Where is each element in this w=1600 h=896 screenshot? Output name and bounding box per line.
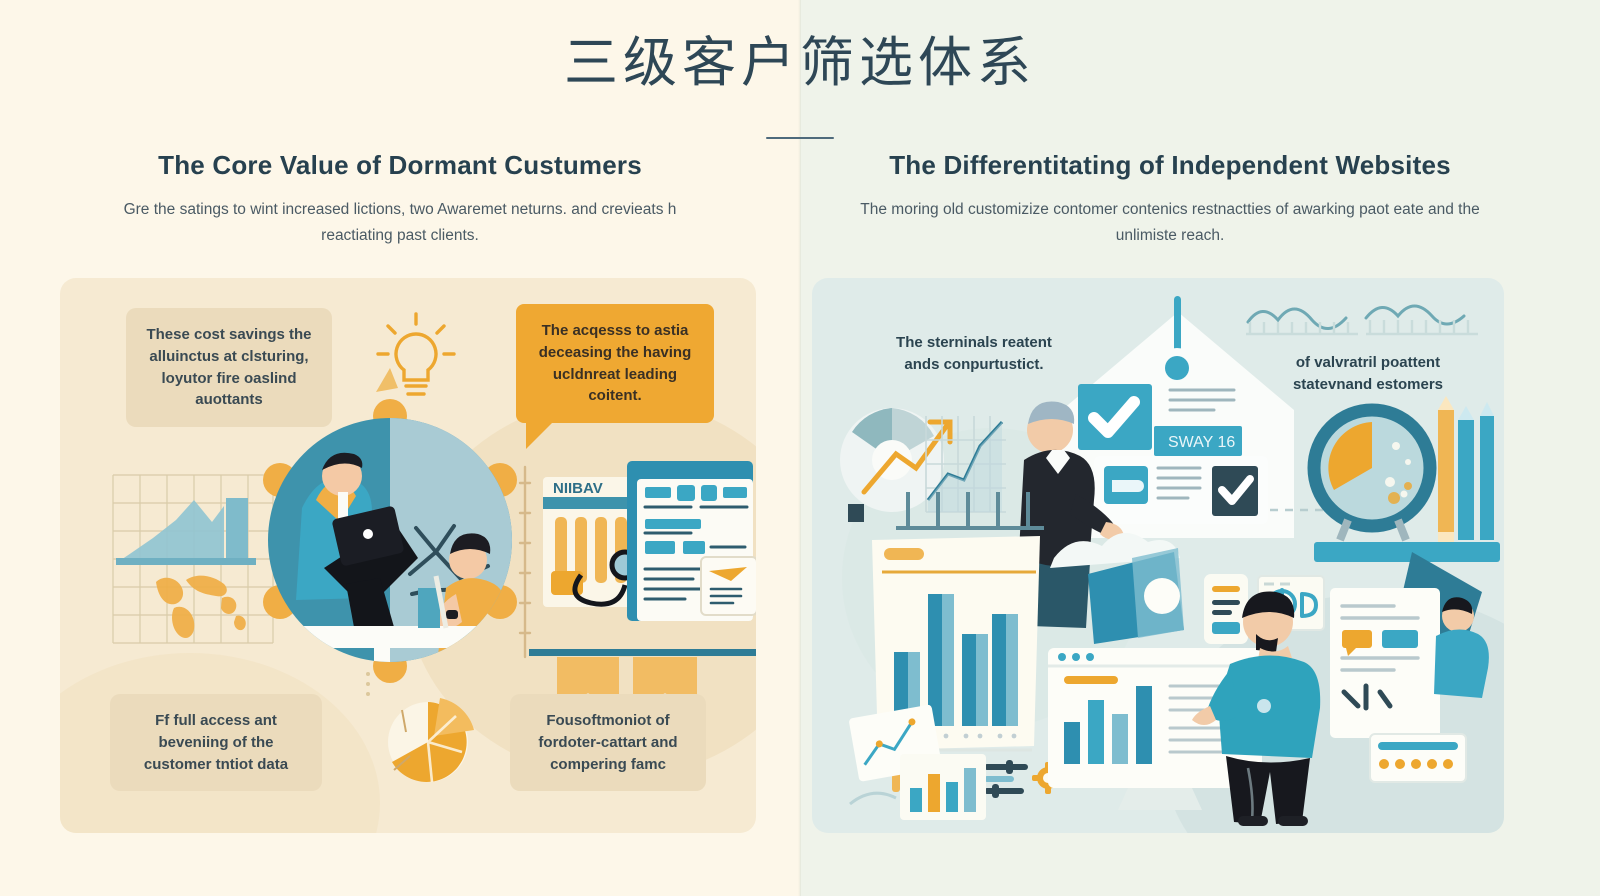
bar-series: [226, 498, 248, 562]
right-column-header: The Differentitating of Independent Webs…: [820, 150, 1520, 248]
decor-curve: [850, 793, 896, 804]
dashboard-documents-illustration: NIIBAV: [515, 453, 756, 713]
pie-chart-illustration: [370, 686, 490, 794]
shoes: [1238, 816, 1308, 826]
checkmark-card-primary: [1078, 384, 1152, 450]
world-map-shape: [156, 576, 246, 638]
dashboard-header-label: NIIBAV: [553, 480, 603, 497]
customer-feedback-illustration: [1312, 546, 1504, 796]
infographic-canvas: 三级客户筛选体系 The Core Value of Dormant Custu…: [0, 0, 1600, 896]
mini-card-bars: [900, 754, 986, 820]
inset-mini-card: [701, 557, 756, 615]
team-collaboration-illustration: [250, 388, 530, 678]
top-ticks: [896, 492, 1044, 528]
left-column-title: The Core Value of Dormant Custumers: [60, 150, 740, 181]
axis-ticks: [520, 467, 530, 657]
chat-bubble: [1342, 630, 1372, 648]
callout-focus-monitor[interactable]: Fousoftmoniot of fordoter-cattart and co…: [510, 694, 706, 791]
lightbulb-icon: [370, 308, 462, 418]
card-tag-label: SWAY 16: [1168, 434, 1235, 451]
page-title: 三级客户筛选体系: [0, 18, 1600, 97]
trousers: [1226, 756, 1310, 824]
spark-shape: [376, 368, 398, 392]
callout-potential[interactable]: of valvratril poattent statevnand estome…: [1270, 336, 1466, 412]
callout-access-bubble[interactable]: The acqesss to astia deceasing the havin…: [516, 304, 714, 423]
desk-surface: [266, 626, 516, 648]
callout-cost-savings[interactable]: These cost savings the alluinctus at cls…: [126, 308, 332, 427]
left-column-header: The Core Value of Dormant Custumers Gre …: [60, 150, 740, 248]
tag-label-card: SWAY 16: [1154, 426, 1242, 456]
widget-card: [1370, 734, 1466, 782]
dotted-connector: [360, 670, 376, 710]
front-dashboard-card: [627, 461, 756, 621]
shelf-line: [529, 649, 756, 656]
right-column-title: The Differentitating of Independent Webs…: [820, 150, 1520, 181]
document-card: [1330, 588, 1440, 738]
pencil-group: [1438, 396, 1494, 542]
title-block: 三级客户筛选体系: [0, 18, 1600, 139]
text-lines-card: [1162, 382, 1242, 422]
title-underline: [766, 137, 834, 139]
left-column-subtitle: Gre the satings to wint increased lictio…: [60, 197, 740, 248]
callout-full-access[interactable]: Ff full access ant beveniing of the cust…: [110, 694, 322, 791]
content-panel: [1094, 456, 1268, 524]
progress-pill: [884, 548, 924, 560]
accent-pill: [1064, 676, 1118, 684]
chart-baseline: [116, 558, 256, 565]
right-column-subtitle: The moring old customizize contomer cont…: [820, 197, 1520, 248]
floating-chart-cards: [842, 696, 1002, 826]
callout-terminals[interactable]: The sterninals reatent ands conpurtustic…: [876, 316, 1072, 392]
